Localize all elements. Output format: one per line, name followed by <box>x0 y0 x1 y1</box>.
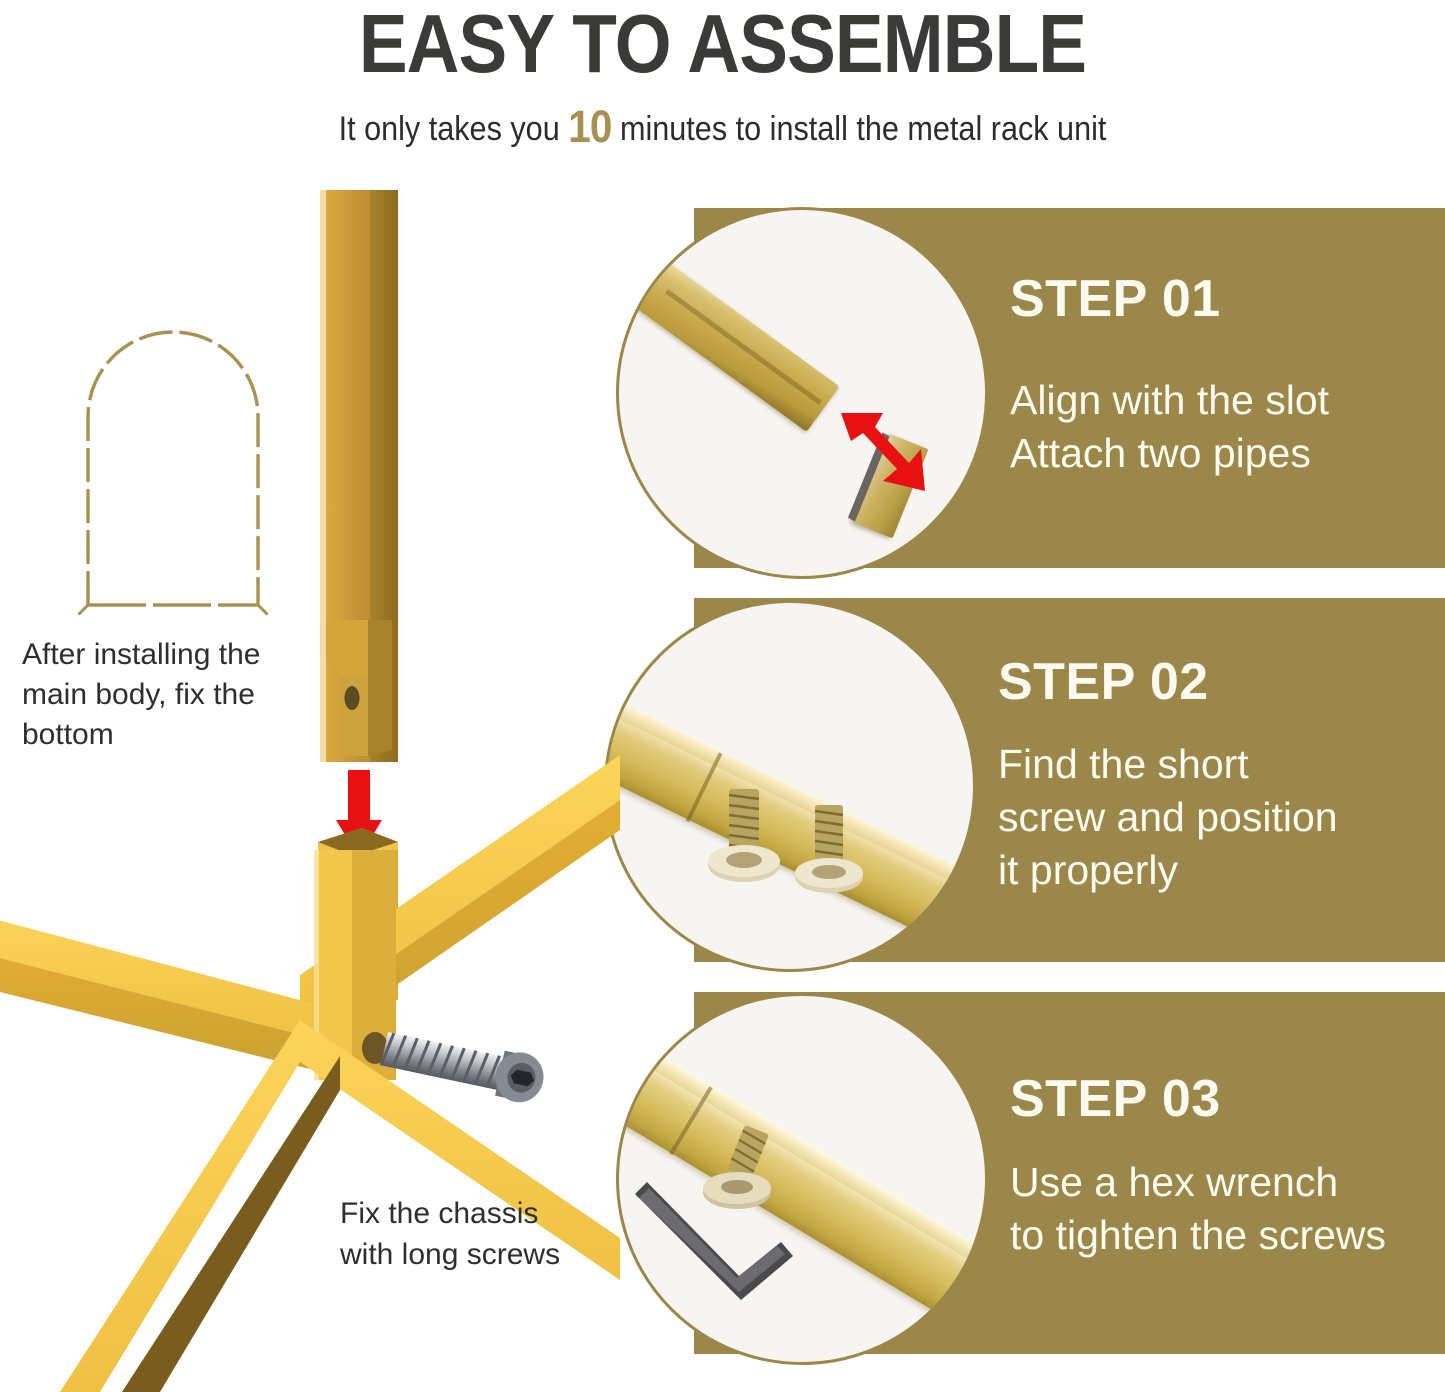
chassis-caption: Fix the chassis with long screws <box>340 1193 670 1275</box>
step-01-title: STEP 01 <box>1010 270 1221 328</box>
short-screw-icon-2 <box>785 799 877 919</box>
chassis-caption-line-1: Fix the chassis <box>340 1193 670 1234</box>
pipe-groove-line <box>665 289 822 405</box>
hex-wrench-illustration <box>619 996 985 1362</box>
pipe-end-tip <box>616 252 661 297</box>
step-02-description: Find the short screw and position it pro… <box>998 738 1338 897</box>
step-03-photo-circle <box>616 993 988 1365</box>
header: EASY TO ASSEMBLE It only takes you 10 mi… <box>0 0 1445 175</box>
step-03-desc-line-1: Use a hex wrench <box>1010 1156 1386 1209</box>
step-03-description: Use a hex wrench to tighten the screws <box>1010 1156 1386 1262</box>
short-screws-illustration <box>607 603 973 969</box>
chassis-caption-line-2: with long screws <box>340 1234 670 1275</box>
step-01-description: Align with the slot Attach two pipes <box>1010 374 1329 480</box>
step-02-desc-line-3: it properly <box>998 844 1338 897</box>
step-01-desc-line-1: Align with the slot <box>1010 374 1329 427</box>
step-03-desc-line-2: to tighten the screws <box>1010 1209 1386 1262</box>
step-02-desc-line-1: Find the short <box>998 738 1338 791</box>
subtitle-suffix: minutes to install the metal rack unit <box>611 110 1106 148</box>
step-02-desc-line-2: screw and position <box>998 791 1338 844</box>
step-02-title: STEP 02 <box>998 653 1209 711</box>
page-subtitle: It only takes you 10 minutes to install … <box>72 104 1373 152</box>
vertical-pipe-upper <box>320 190 398 762</box>
red-arrow-icon <box>837 407 929 493</box>
subtitle-prefix: It only takes you <box>339 110 569 148</box>
step-01-desc-line-2: Attach two pipes <box>1010 427 1329 480</box>
subtitle-minutes-number: 10 <box>568 101 611 152</box>
step-01-photo-circle <box>616 207 988 579</box>
horizontal-base-bar-left <box>0 910 330 1074</box>
long-pipe-shape <box>621 251 840 431</box>
step-03-title: STEP 03 <box>1010 1070 1221 1128</box>
page-title: EASY TO ASSEMBLE <box>87 0 1359 92</box>
step-02-photo-circle <box>604 600 976 972</box>
short-screw-icon-1 <box>699 783 791 903</box>
pipe-alignment-illustration <box>619 210 985 576</box>
